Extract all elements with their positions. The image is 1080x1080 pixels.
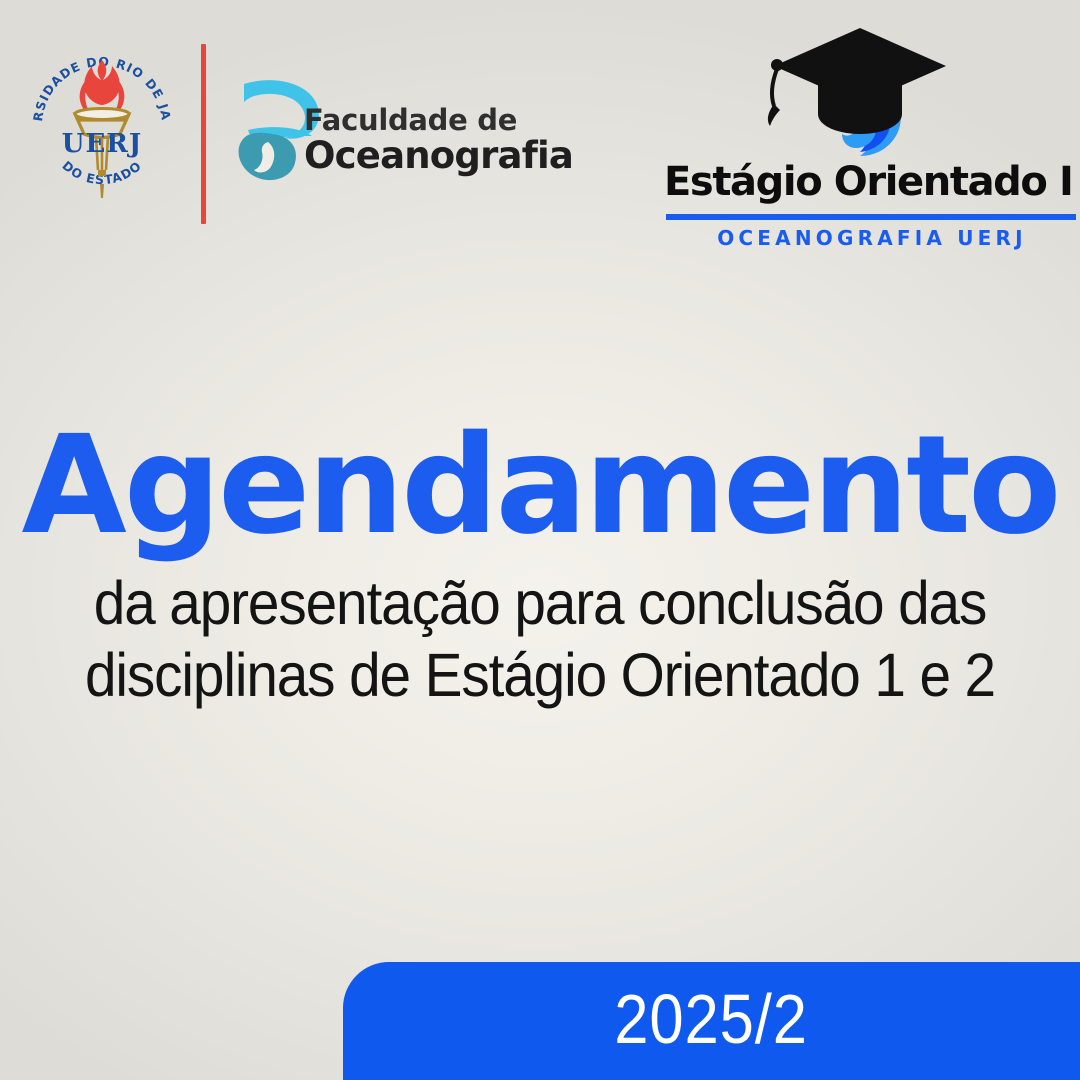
term-label: 2025/2 — [615, 984, 809, 1058]
headline-block: Agendamento da apresentação para conclus… — [0, 418, 1080, 712]
page-subtitle: da apresentação para conclusão das disci… — [38, 568, 1042, 712]
page-title: Agendamento — [0, 418, 1080, 554]
faculdade-oceanografia-logo: Faculdade de Oceanografia — [228, 76, 488, 188]
header-divider — [201, 44, 206, 224]
graduation-cap-wave-icon — [760, 22, 965, 170]
svg-text:UERJ: UERJ — [62, 129, 142, 159]
page-subtitle-line-1: da apresentação para conclusão das — [38, 568, 1042, 640]
term-banner: 2025/2 — [343, 962, 1080, 1080]
faculty-line-1: Faculdade de — [304, 106, 573, 135]
page-subtitle-line-2: disciplinas de Estágio Orientado 1 e 2 — [38, 640, 1042, 712]
poster-canvas: UNIVERSIDADE DO RIO DE JANEIRO DO ESTADO — [0, 0, 1080, 1080]
estagio-orientado-rule — [666, 214, 1076, 220]
estagio-orientado-title: Estágio Orientado I & II — [664, 162, 1080, 202]
faculdade-oceanografia-wordmark: Faculdade de Oceanografia — [304, 106, 573, 174]
estagio-orientado-subtitle: OCEANOGRAFIA UERJ — [666, 226, 1078, 250]
faculty-line-2: Oceanografia — [304, 137, 573, 174]
estagio-orientado-logo: Estágio Orientado I & II OCEANOGRAFIA UE… — [652, 22, 1080, 242]
header-logos: UNIVERSIDADE DO RIO DE JANEIRO DO ESTADO — [0, 0, 1080, 250]
uerj-seal-logo: UNIVERSIDADE DO RIO DE JANEIRO DO ESTADO — [28, 44, 176, 206]
